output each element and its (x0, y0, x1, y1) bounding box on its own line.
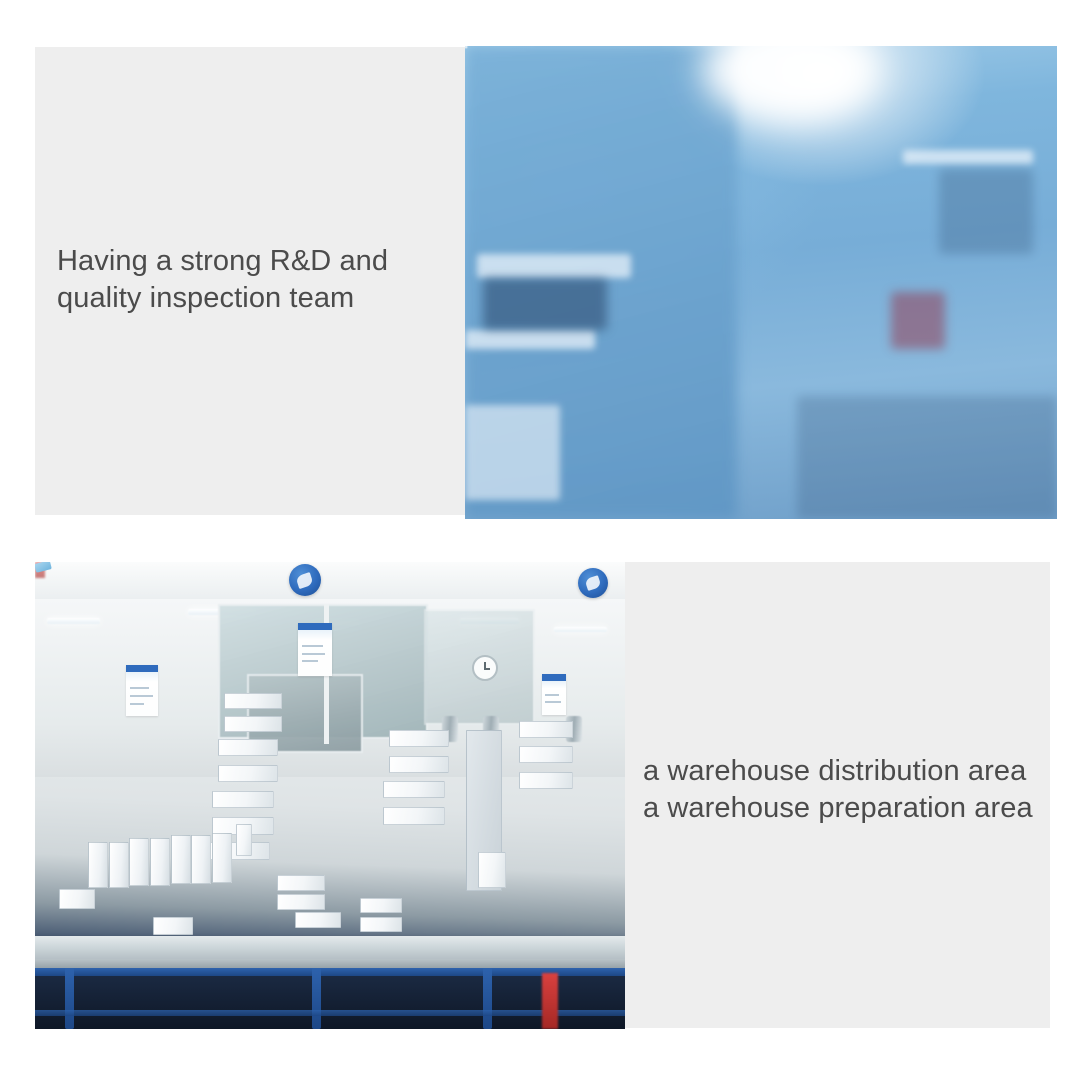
lab-inspection-photo (465, 46, 1057, 519)
banner-canvas: Having a strong R&D and quality inspecti… (0, 0, 1080, 1080)
info-placard-right (542, 674, 566, 715)
lab-rack-shelf (903, 150, 1033, 164)
table-leg-1 (65, 968, 74, 1029)
lab-shelf-upper (477, 254, 631, 278)
lab-rack-body (939, 169, 1034, 254)
info-placard-center (298, 623, 332, 676)
floor-area (35, 968, 625, 1029)
lab-bench-left (465, 405, 560, 500)
light-tube-5 (554, 627, 607, 632)
lab-equipment-dark (483, 278, 607, 330)
table-leg-3 (483, 968, 492, 1029)
table-frame-rail (35, 968, 625, 976)
lab-shelf-lower (465, 330, 595, 349)
top-caption-text: Having a strong R&D and quality inspecti… (57, 243, 388, 317)
light-tube-1 (47, 618, 100, 624)
bottom-caption-text: a warehouse distribution area a warehous… (643, 753, 1033, 827)
lab-bench-shadow (797, 396, 1057, 519)
table-leg-2 (312, 968, 321, 1029)
wall-clock (472, 655, 498, 681)
warehouse-packing-photo (35, 562, 625, 1029)
table-bottom-rail (35, 1010, 625, 1016)
info-placard-left (126, 665, 158, 716)
ceiling-logo-sign-right (578, 568, 608, 598)
ceiling-logo-sign-left (289, 564, 321, 596)
cleanroom-ceiling (35, 562, 625, 604)
red-item-floor (542, 973, 558, 1029)
lab-red-tray (891, 292, 944, 349)
worker-right-flask (465, 46, 467, 48)
